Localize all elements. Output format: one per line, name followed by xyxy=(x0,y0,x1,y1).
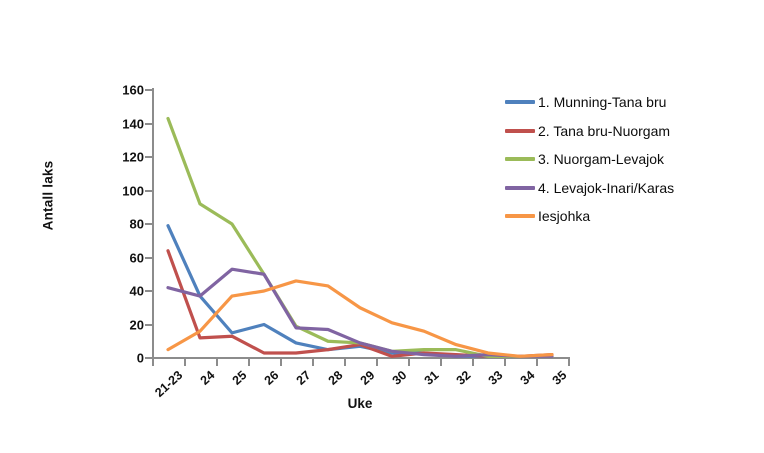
x-tick-mark xyxy=(280,359,282,366)
y-tick-mark xyxy=(145,257,152,259)
y-tick-label: 40 xyxy=(112,284,144,299)
line-chart: Antall laks 020406080100120140160 21-232… xyxy=(0,0,764,453)
legend-label: Iesjohka xyxy=(538,209,590,223)
x-tick-mark xyxy=(152,359,154,366)
y-tick-label: 0 xyxy=(112,351,144,366)
y-tick-mark xyxy=(145,89,152,91)
x-tick-mark xyxy=(504,359,506,366)
x-tick-label: 29 xyxy=(358,368,378,388)
x-tick-mark xyxy=(216,359,218,366)
x-tick-mark xyxy=(408,359,410,366)
legend-label: 2. Tana bru-Nuorgam xyxy=(538,124,670,138)
legend-swatch-icon xyxy=(505,157,535,161)
legend-item-2[interactable]: 2. Tana bru-Nuorgam xyxy=(505,117,755,146)
y-tick-mark xyxy=(145,123,152,125)
legend-label: 1. Munning-Tana bru xyxy=(538,95,666,109)
x-axis-title: Uke xyxy=(152,396,568,411)
y-tick-label: 100 xyxy=(112,183,144,198)
y-tick-label: 140 xyxy=(112,116,144,131)
y-tick-mark xyxy=(145,190,152,192)
x-tick-label: 33 xyxy=(486,368,506,388)
legend-item-1[interactable]: 1. Munning-Tana bru xyxy=(505,88,755,117)
x-tick-mark xyxy=(376,359,378,366)
x-tick-mark xyxy=(568,359,570,366)
x-tick-label: 25 xyxy=(230,368,250,388)
x-tick-label: 27 xyxy=(294,368,314,388)
x-tick-label: 31 xyxy=(422,368,442,388)
x-tick-label: 35 xyxy=(550,368,570,388)
x-tick-mark xyxy=(312,359,314,366)
y-tick-label: 80 xyxy=(112,217,144,232)
y-tick-label: 20 xyxy=(112,317,144,332)
legend-item-5[interactable]: Iesjohka xyxy=(505,202,755,231)
x-tick-mark xyxy=(248,359,250,366)
x-tick-mark xyxy=(344,359,346,366)
x-tick-label: 34 xyxy=(518,368,538,388)
x-tick-mark xyxy=(472,359,474,366)
x-tick-mark xyxy=(536,359,538,366)
legend-label: 3. Nuorgam-Levajok xyxy=(538,152,664,166)
y-tick-mark xyxy=(145,223,152,225)
legend-swatch-icon xyxy=(505,214,535,218)
y-axis-title: Antall laks xyxy=(41,126,56,266)
y-tick-label: 160 xyxy=(112,83,144,98)
legend-swatch-icon xyxy=(505,129,535,133)
series-line-4 xyxy=(168,269,552,356)
series-line-3 xyxy=(168,118,552,358)
x-tick-mark xyxy=(440,359,442,366)
y-axis-tick-labels: 020406080100120140160 xyxy=(112,82,144,359)
y-tick-mark xyxy=(145,357,152,359)
legend-label: 4. Levajok-Inari/Karas xyxy=(538,181,674,195)
y-tick-label: 60 xyxy=(112,250,144,265)
legend-item-3[interactable]: 3. Nuorgam-Levajok xyxy=(505,145,755,174)
y-tick-label: 120 xyxy=(112,150,144,165)
x-tick-label: 24 xyxy=(198,368,218,388)
y-tick-mark xyxy=(145,290,152,292)
y-tick-mark xyxy=(145,324,152,326)
x-tick-label: 32 xyxy=(454,368,474,388)
y-tick-mark xyxy=(145,156,152,158)
x-tick-label: 30 xyxy=(390,368,410,388)
x-tick-label: 26 xyxy=(262,368,282,388)
x-tick-label: 28 xyxy=(326,368,346,388)
chart-legend: 1. Munning-Tana bru2. Tana bru-Nuorgam3.… xyxy=(505,88,755,231)
legend-swatch-icon xyxy=(505,186,535,190)
legend-item-4[interactable]: 4. Levajok-Inari/Karas xyxy=(505,174,755,203)
legend-swatch-icon xyxy=(505,100,535,104)
x-tick-mark xyxy=(184,359,186,366)
